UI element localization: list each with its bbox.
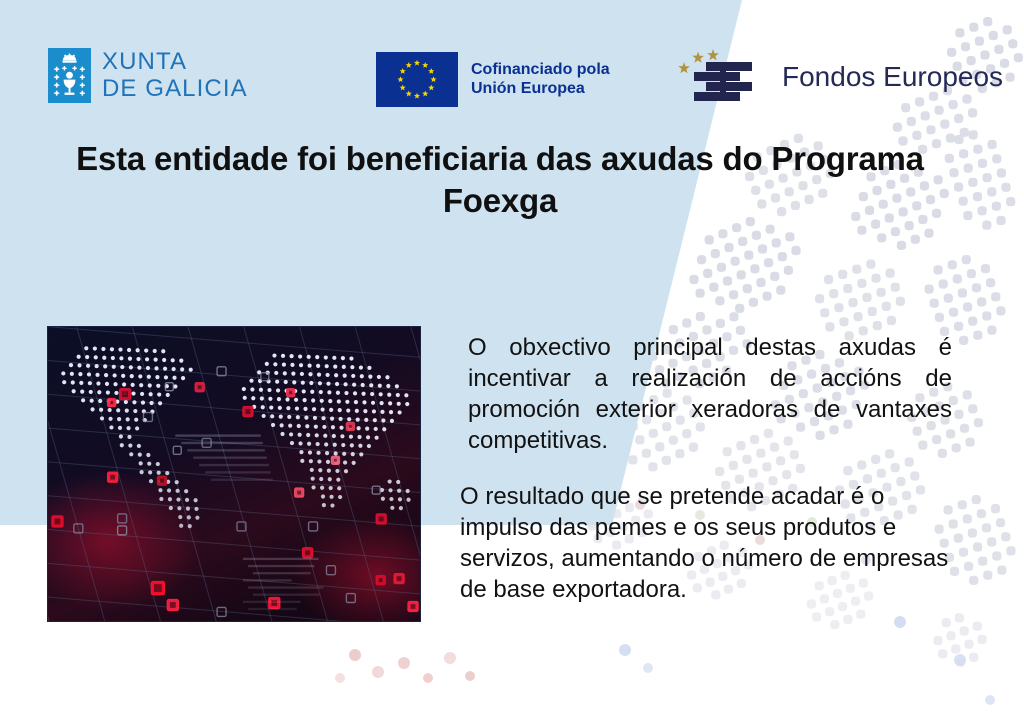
page-title: Esta entidade foi beneficiaria das axuda… [60,138,940,222]
fondos-europeos-logo: Fondos Europeos [676,46,1003,108]
paragraph-objective: O obxectivo principal destas axudas é in… [460,333,952,457]
galicia-coat-of-arms-chalice-crown-icon [48,48,91,103]
logo-row: XUNTA DE GALICIA Cofinanciado pola Unión… [0,0,1024,128]
eu-flag-twelve-stars-icon [376,52,458,107]
eu-logo-wordmark: Cofinanciado pola Unión Europea [471,61,610,99]
fondos-europeos-wordmark: Fondos Europeos [782,61,1003,93]
page-title-line1: Esta entidade foi beneficiaria das axuda… [76,140,762,177]
xunta-logo-line1: XUNTA [102,50,248,74]
eu-logo-line2: Unión Europea [471,80,610,99]
european-union-cofinancing-logo: Cofinanciado pola Unión Europea [376,52,610,107]
body-text-column: O obxectivo principal destas axudas é in… [460,333,952,606]
xunta-logo-wordmark: XUNTA DE GALICIA [102,50,248,101]
paragraph-result: O resultado que se pretende acadar é o i… [460,482,952,606]
fondos-europeos-stairs-stars-icon [676,46,768,108]
xunta-logo-line2: DE GALICIA [102,77,248,101]
foexga-subsidy-poster: XUNTA DE GALICIA Cofinanciado pola Unión… [0,0,1024,724]
dotted-world-map-photo [47,326,421,622]
xunta-de-galicia-logo: XUNTA DE GALICIA [48,48,248,103]
eu-logo-line1: Cofinanciado pola [471,61,610,80]
